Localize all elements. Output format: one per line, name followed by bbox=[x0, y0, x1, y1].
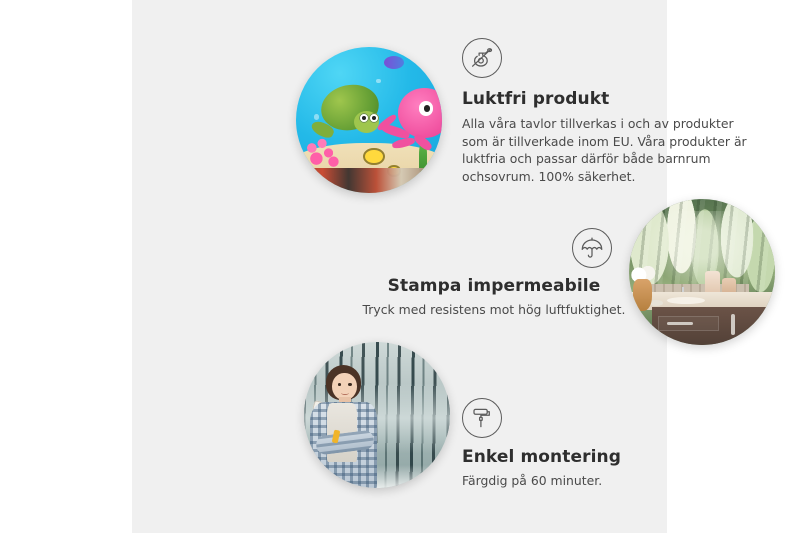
sink-basin bbox=[667, 297, 705, 304]
feature-body: Färgdig på 60 minuter. bbox=[462, 472, 692, 490]
product-image-bathroom[interactable] bbox=[629, 199, 775, 345]
bathroom-photo bbox=[629, 199, 775, 345]
vase-icon bbox=[633, 279, 652, 311]
turtle-pupil bbox=[362, 116, 366, 120]
no-odour-perfume-icon bbox=[462, 38, 502, 78]
feature-body: Alla våra tavlor tillverkas i och av pro… bbox=[462, 115, 752, 185]
feature-body: Tryck med resistens mot hög luftfuktighe… bbox=[354, 301, 634, 319]
paint-roller-icon bbox=[462, 398, 502, 438]
product-image-painter[interactable] bbox=[304, 342, 450, 488]
feature-title: Enkel montering bbox=[462, 447, 692, 467]
feature-odourless: Luktfri produkt Alla våra tavlor tillver… bbox=[462, 38, 762, 185]
umbrella-icon bbox=[572, 228, 612, 268]
person-face bbox=[332, 373, 357, 401]
content-panel: Luktfri produkt Alla våra tavlor tillver… bbox=[132, 0, 667, 533]
coral-icon bbox=[305, 132, 343, 170]
feature-title: Stampa impermeabile bbox=[354, 276, 634, 296]
blue-fish-icon bbox=[384, 56, 404, 69]
icon-wrapper bbox=[354, 228, 634, 276]
person-eye bbox=[348, 383, 352, 386]
screenshot-stage: Luktfri produkt Alla våra tavlor tillver… bbox=[0, 0, 800, 533]
feature-assembly: Enkel montering Färgdig på 60 minuter. bbox=[462, 398, 692, 490]
feature-waterproof: Stampa impermeabile Tryck med resistens … bbox=[354, 228, 634, 319]
aquarium-art bbox=[296, 47, 442, 193]
drawer-handle bbox=[667, 322, 693, 326]
lower-scene-strip bbox=[296, 168, 442, 193]
cabinet-handle bbox=[731, 314, 735, 334]
product-image-aquarium[interactable] bbox=[296, 47, 442, 193]
feature-title: Luktfri produkt bbox=[462, 89, 762, 109]
wallpaper-highlight bbox=[641, 211, 764, 296]
painter-photo bbox=[304, 342, 450, 488]
